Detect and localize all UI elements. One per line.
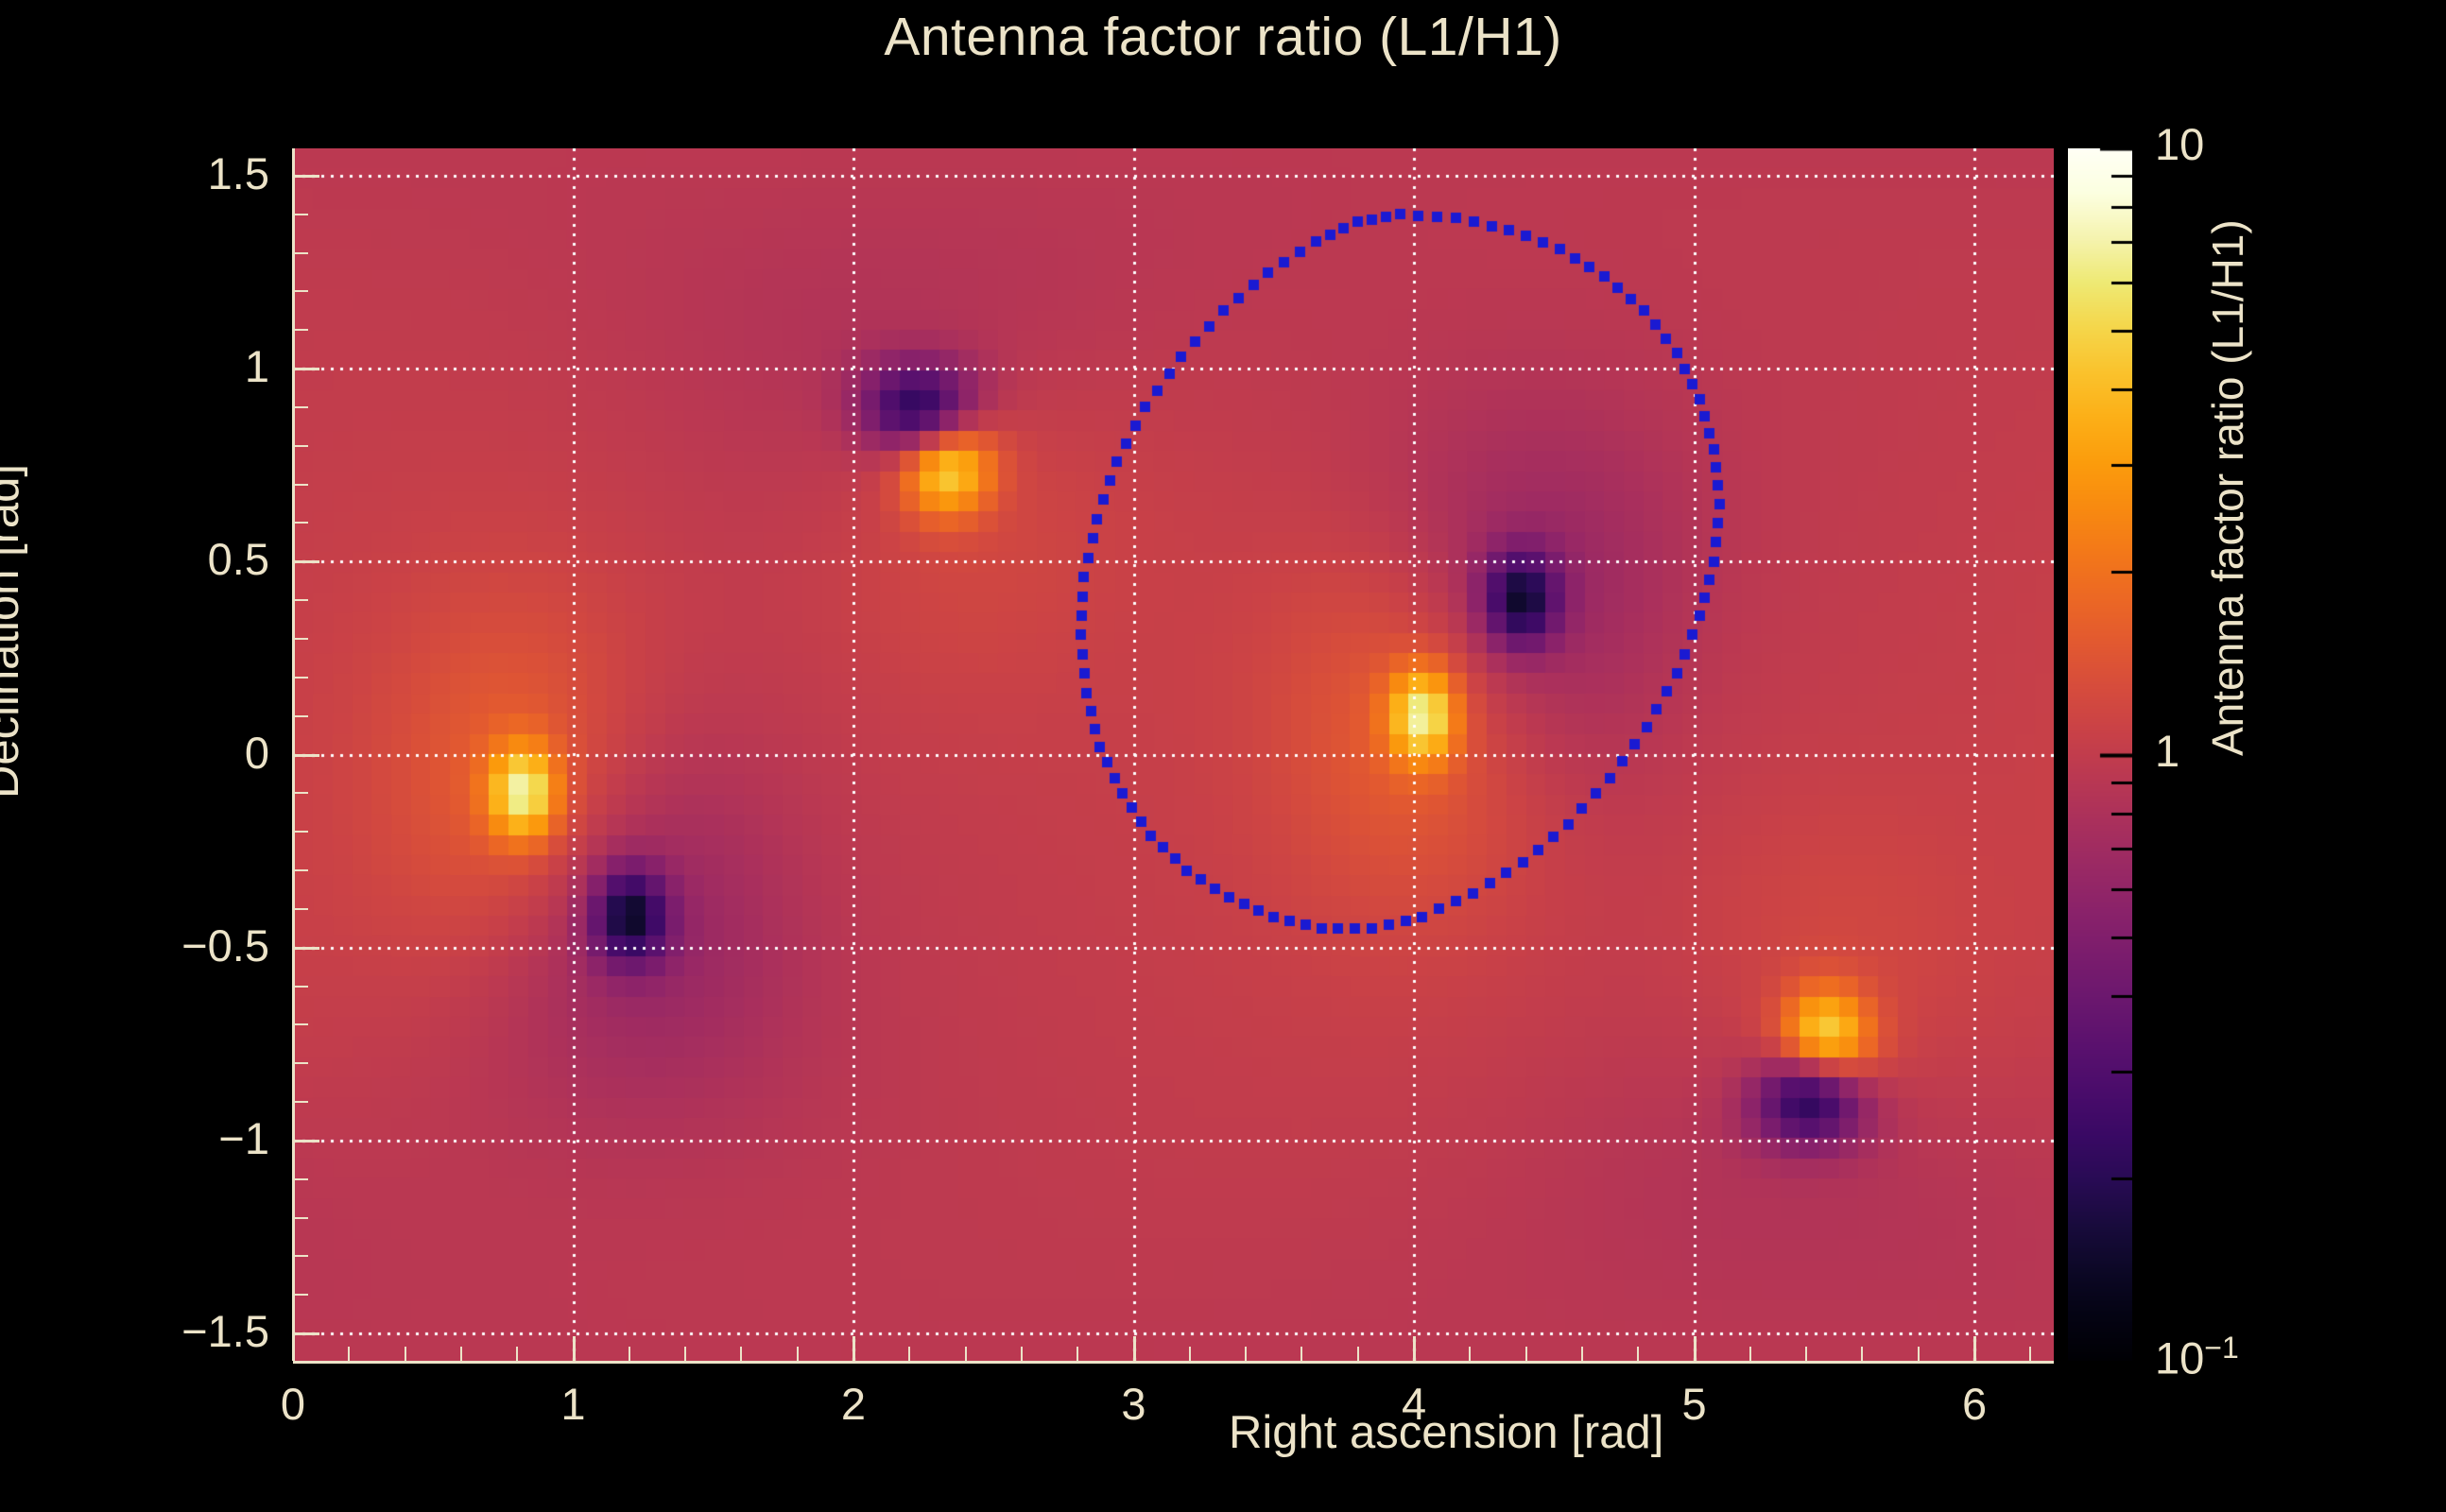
x-tick-label: 5: [1674, 1378, 1715, 1430]
x-minor-tick: [1021, 1347, 1023, 1361]
y-minor-tick: [293, 831, 308, 833]
x-minor-tick: [684, 1347, 686, 1361]
grid-and-contour-overlay: [293, 148, 2054, 1361]
y-minor-tick: [293, 599, 308, 601]
colorbar-title: Antenna factor ratio (L1/H1): [2202, 219, 2253, 756]
x-tick-label: 6: [1954, 1378, 1995, 1430]
y-tick-label: 0: [43, 727, 269, 779]
x-minor-tick: [405, 1347, 406, 1361]
y-minor-tick: [293, 214, 308, 215]
colorbar-tick-label: 10: [2155, 118, 2204, 170]
x-major-tick: [292, 1336, 295, 1361]
y-tick-label: 1: [43, 340, 269, 392]
x-minor-tick: [1077, 1347, 1078, 1361]
colorbar[interactable]: [2068, 148, 2132, 1361]
x-minor-tick: [1245, 1347, 1247, 1361]
y-minor-tick: [293, 986, 308, 988]
y-axis-title: Declination [rad]: [0, 367, 29, 896]
y-tick-label: −1: [43, 1112, 269, 1164]
x-minor-tick: [1301, 1347, 1302, 1361]
x-minor-tick: [1581, 1347, 1583, 1361]
y-major-tick: [293, 560, 319, 563]
x-major-tick: [1973, 1336, 1976, 1361]
y-minor-tick: [293, 1178, 308, 1180]
x-major-tick: [1694, 1336, 1697, 1361]
y-tick-label: 1.5: [43, 147, 269, 199]
y-minor-tick: [293, 869, 308, 871]
x-minor-tick: [460, 1347, 462, 1361]
y-major-tick: [293, 1140, 319, 1143]
y-minor-tick: [293, 1255, 308, 1257]
x-minor-tick: [740, 1347, 742, 1361]
y-minor-tick: [293, 1294, 308, 1296]
x-minor-tick: [2029, 1347, 2031, 1361]
root-canvas: Antenna factor ratio (L1/H1) Declination…: [0, 0, 2446, 1512]
x-major-tick: [853, 1336, 855, 1361]
y-minor-tick: [293, 252, 308, 254]
y-major-tick: [293, 754, 319, 757]
x-minor-tick: [1357, 1347, 1359, 1361]
y-minor-tick: [293, 1217, 308, 1219]
y-tick-label: 0.5: [43, 533, 269, 585]
plot-area[interactable]: [293, 148, 2054, 1361]
x-minor-tick: [1805, 1347, 1807, 1361]
y-minor-tick: [293, 445, 308, 447]
y-tick-label: −0.5: [43, 919, 269, 971]
y-minor-tick: [293, 329, 308, 331]
y-tick-label: −1.5: [43, 1305, 269, 1357]
x-minor-tick: [1189, 1347, 1191, 1361]
y-minor-tick: [293, 1062, 308, 1064]
x-minor-tick: [629, 1347, 630, 1361]
x-axis-title: Right ascension [rad]: [1229, 1406, 1663, 1459]
y-minor-tick: [293, 484, 308, 486]
x-major-tick: [573, 1336, 576, 1361]
plot-frame-bottom: [293, 1361, 2054, 1364]
x-minor-tick: [797, 1347, 799, 1361]
x-major-tick: [1413, 1336, 1416, 1361]
page-title: Antenna factor ratio (L1/H1): [0, 6, 2446, 68]
y-major-tick: [293, 1332, 319, 1335]
colorbar-tick-label: 1: [2155, 725, 2179, 777]
x-tick-label: 1: [553, 1378, 594, 1430]
y-minor-tick: [293, 792, 308, 794]
x-minor-tick: [516, 1347, 518, 1361]
y-minor-tick: [293, 1101, 308, 1103]
y-minor-tick: [293, 715, 308, 717]
x-minor-tick: [1861, 1347, 1863, 1361]
x-minor-tick: [965, 1347, 967, 1361]
x-minor-tick: [1637, 1347, 1639, 1361]
y-minor-tick: [293, 522, 308, 524]
y-major-tick: [293, 175, 319, 178]
x-tick-label: 2: [833, 1378, 874, 1430]
x-minor-tick: [348, 1347, 350, 1361]
y-minor-tick: [293, 406, 308, 408]
y-minor-tick: [293, 908, 308, 910]
colorbar-tick-label: 10−1: [2155, 1331, 2239, 1384]
x-minor-tick: [1749, 1347, 1751, 1361]
y-minor-tick: [293, 677, 308, 679]
y-minor-tick: [293, 638, 308, 640]
x-minor-tick: [1525, 1347, 1527, 1361]
x-major-tick: [1133, 1336, 1136, 1361]
y-minor-tick: [293, 290, 308, 292]
x-tick-label: 0: [272, 1378, 314, 1430]
x-tick-label: 3: [1113, 1378, 1155, 1430]
x-minor-tick: [908, 1347, 910, 1361]
x-minor-tick: [1469, 1347, 1471, 1361]
y-major-tick: [293, 368, 319, 370]
y-major-tick: [293, 947, 319, 950]
y-minor-tick: [293, 1023, 308, 1025]
x-minor-tick: [1918, 1347, 1920, 1361]
colorbar-gradient: [2068, 148, 2132, 1361]
